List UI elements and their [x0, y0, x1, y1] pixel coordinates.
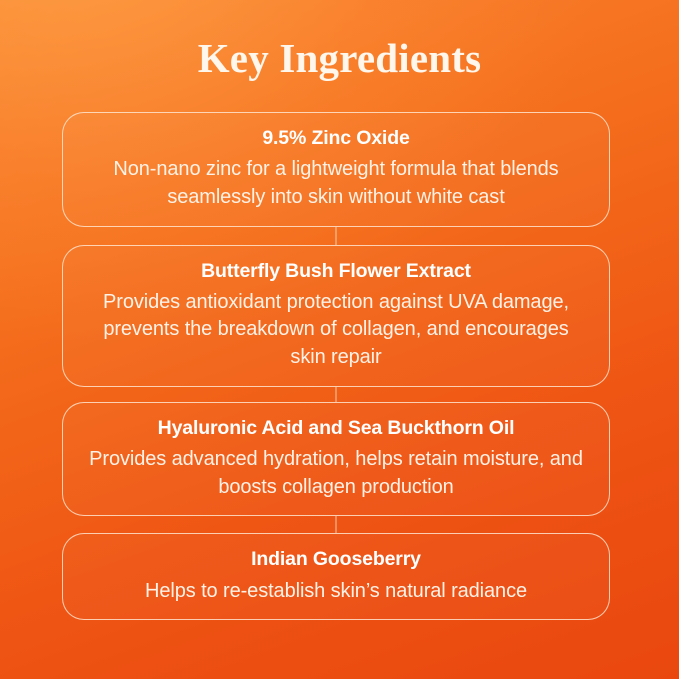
ingredient-description: Provides antioxidant protection against …: [89, 289, 583, 372]
card-connector-line: [336, 227, 337, 245]
card-connector-line: [336, 516, 337, 533]
ingredient-heading: 9.5% Zinc Oxide: [89, 126, 583, 151]
ingredient-card-indian-gooseberry[interactable]: Indian Gooseberry Helps to re-establish …: [62, 533, 610, 620]
ingredient-card-wrap-4: Indian Gooseberry Helps to re-establish …: [62, 533, 610, 620]
ingredient-card-butterfly-bush-flower-extract[interactable]: Butterfly Bush Flower Extract Provides a…: [62, 245, 610, 387]
page-title: Key Ingredients: [0, 34, 679, 82]
ingredient-card-wrap-2: Butterfly Bush Flower Extract Provides a…: [62, 245, 610, 387]
connector-gap-1: [62, 227, 610, 245]
connector-gap-2: [62, 387, 610, 402]
ingredient-heading: Hyaluronic Acid and Sea Buckthorn Oil: [89, 416, 583, 441]
ingredient-card-hyaluronic-acid-sea-buckthorn-oil[interactable]: Hyaluronic Acid and Sea Buckthorn Oil Pr…: [62, 402, 610, 517]
ingredient-heading: Indian Gooseberry: [89, 547, 583, 572]
card-connector-line: [336, 387, 337, 402]
ingredient-card-wrap-3: Hyaluronic Acid and Sea Buckthorn Oil Pr…: [62, 402, 610, 517]
ingredient-description: Helps to re-establish skin’s natural rad…: [89, 578, 583, 606]
ingredient-description: Provides advanced hydration, helps retai…: [89, 446, 583, 501]
ingredient-card-wrap-1: 9.5% Zinc Oxide Non-nano zinc for a ligh…: [62, 112, 610, 227]
ingredient-description: Non-nano zinc for a lightweight formula …: [89, 156, 583, 211]
ingredient-card-stack: 9.5% Zinc Oxide Non-nano zinc for a ligh…: [62, 112, 610, 620]
ingredient-heading: Butterfly Bush Flower Extract: [89, 259, 583, 284]
connector-gap-3: [62, 516, 610, 533]
ingredient-card-zinc-oxide[interactable]: 9.5% Zinc Oxide Non-nano zinc for a ligh…: [62, 112, 610, 227]
key-ingredients-poster: Key Ingredients 9.5% Zinc Oxide Non-nano…: [0, 0, 679, 679]
